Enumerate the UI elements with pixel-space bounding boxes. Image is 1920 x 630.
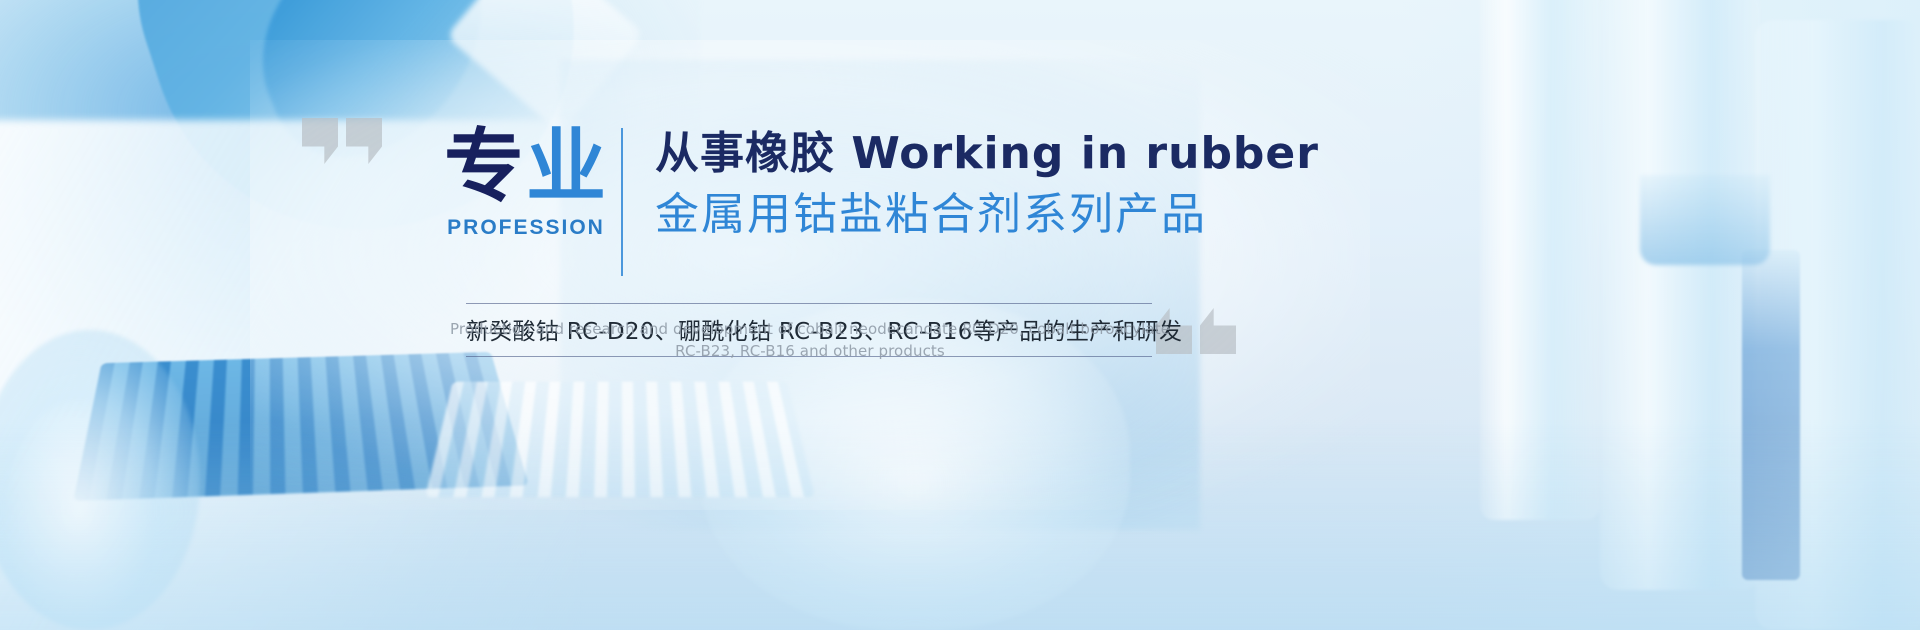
- headline-line-1: 从事橡胶 Working in rubber: [655, 124, 1275, 184]
- vertical-divider: [621, 128, 623, 276]
- logo-lockup: 专业 PROFESSION: [442, 124, 610, 240]
- logo-chinese: 专业: [442, 124, 610, 210]
- logo-chinese-char-1: 专: [444, 120, 526, 213]
- close-quote-glyph-left: [1200, 308, 1236, 354]
- open-quote-glyph-left: [302, 118, 338, 164]
- open-quote-glyph-right: [346, 118, 382, 164]
- banner-content: 专业 PROFESSION 从事橡胶 Working in rubber 金属用…: [0, 0, 1920, 630]
- headline-line-2: 金属用钴盐粘合剂系列产品: [655, 184, 1275, 246]
- english-description-line-2: RC-B23, RC-B16 and other products: [440, 340, 1180, 362]
- headline-block: 从事橡胶 Working in rubber 金属用钴盐粘合剂系列产品: [655, 124, 1275, 246]
- logo-chinese-char-2: 业: [526, 120, 608, 213]
- hero-banner: 专业 PROFESSION 从事橡胶 Working in rubber 金属用…: [0, 0, 1920, 630]
- open-quote-icon: [302, 118, 338, 164]
- english-description: Production and research and development …: [440, 318, 1180, 362]
- close-quote-icon: [1200, 308, 1236, 354]
- logo-english: PROFESSION: [442, 216, 610, 240]
- english-description-line-1: Production and research and development …: [440, 318, 1180, 340]
- divider-top: [466, 303, 1152, 304]
